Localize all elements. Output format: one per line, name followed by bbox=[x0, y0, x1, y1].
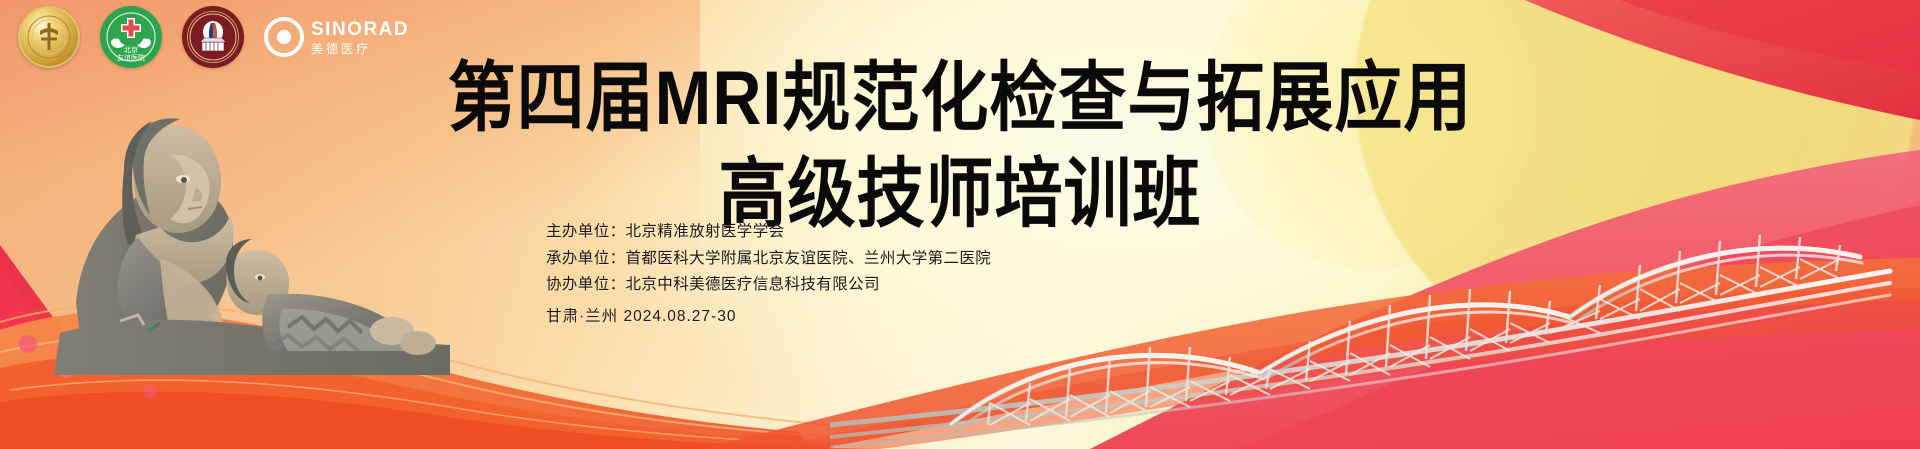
capital-medical-university-logo bbox=[182, 6, 244, 68]
svg-text:友谊医院: 友谊医院 bbox=[117, 53, 145, 62]
organizer-logos: 北京 友谊医院 bbox=[18, 6, 409, 68]
sinorad-name: SINORAD bbox=[311, 20, 409, 39]
info-line-host: 主办单位：北京精准放射医学学会 bbox=[546, 219, 991, 246]
gold-medal-logo bbox=[18, 6, 80, 68]
organizer-info-block: 主办单位：北京精准放射医学学会 承办单位：首都医科大学附属北京友谊医院、兰州大学… bbox=[546, 219, 991, 331]
conference-banner: 北京 友谊医院 bbox=[0, 0, 1920, 449]
info-line-coorganizer: 协办单位：北京中科美德医疗信息科技有限公司 bbox=[546, 272, 991, 299]
sinorad-name-cn: 美德医疗 bbox=[311, 43, 409, 55]
zhongshan-bridge bbox=[830, 175, 1920, 449]
beijing-friendship-hospital-logo: 北京 友谊医院 bbox=[100, 6, 162, 68]
svg-text:北京: 北京 bbox=[124, 45, 138, 54]
yellow-river-mother-sculpture bbox=[20, 95, 450, 375]
sinorad-mark-icon bbox=[264, 17, 304, 57]
sinorad-logo: SINORAD 美德医疗 bbox=[264, 17, 409, 57]
info-line-undertaker: 承办单位：首都医科大学附属北京友谊医院、兰州大学第二医院 bbox=[546, 246, 991, 273]
location-date: 甘肃·兰州 2024.08.27-30 bbox=[546, 304, 991, 331]
